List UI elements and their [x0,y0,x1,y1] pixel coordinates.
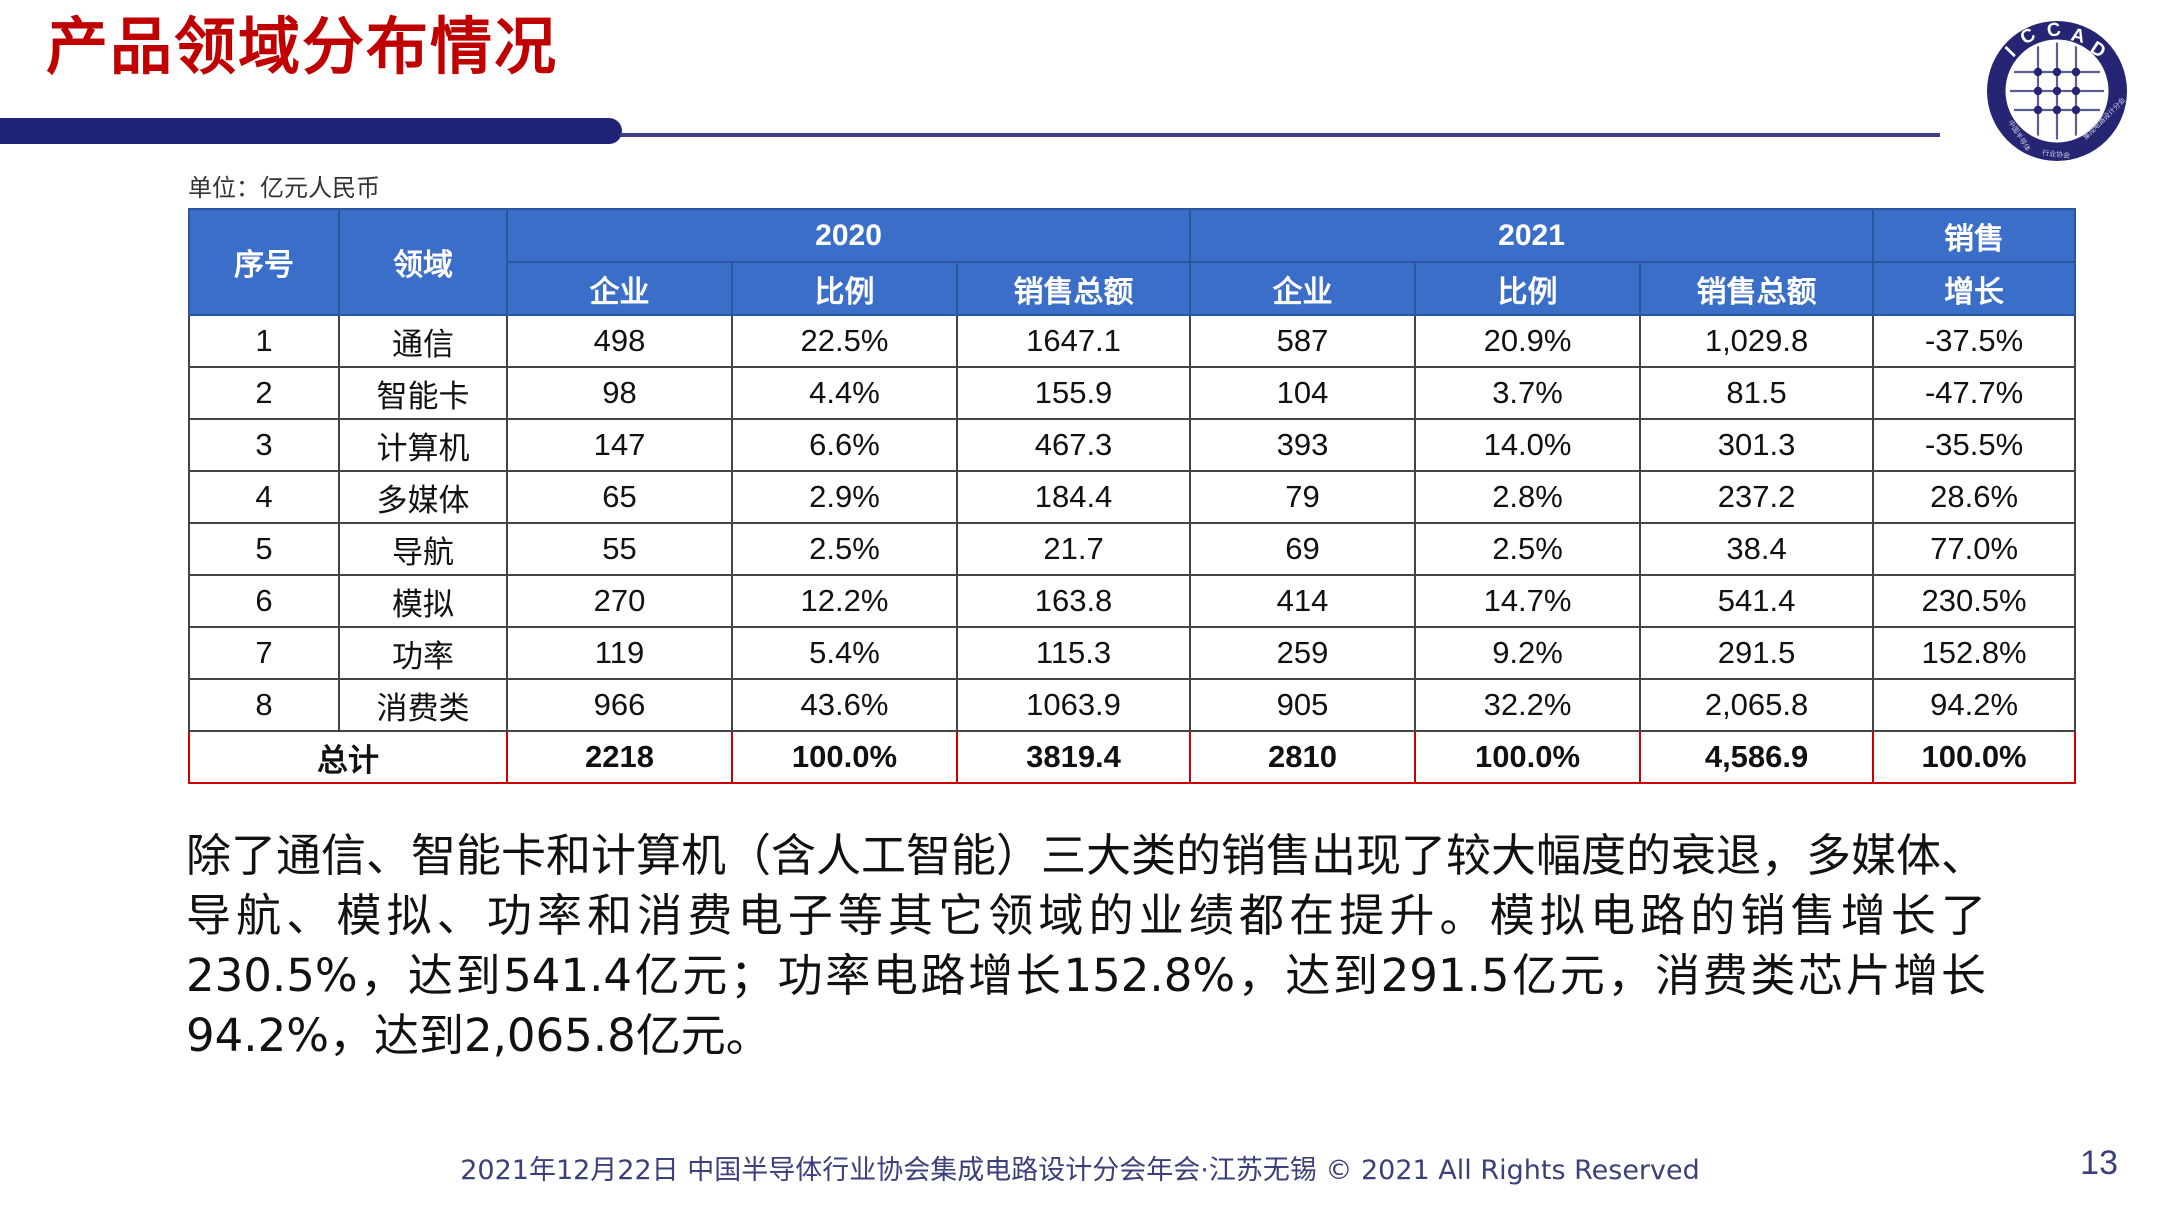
th-2021-companies: 企业 [1190,262,1415,315]
table-row: 3计算机1476.6%467.339314.0%301.3-35.5% [189,419,2075,471]
cell-r2020: 43.6% [732,679,957,731]
cell-growth: 230.5% [1873,575,2075,627]
cell-r2021: 3.7% [1415,367,1640,419]
cell-s2020: 115.3 [957,627,1190,679]
cell-s2021: 1,029.8 [1640,315,1873,367]
cell-s2020: 1647.1 [957,315,1190,367]
cell-r2021: 32.2% [1415,679,1640,731]
cell-r2021: 14.0% [1415,419,1640,471]
cell-growth: 94.2% [1873,679,2075,731]
cell-growth: 152.8% [1873,627,2075,679]
cell-r2020: 2.9% [732,471,957,523]
cell-seq: 3 [189,419,339,471]
cell-total-r2021: 100.0% [1415,731,1640,783]
cell-c2021: 79 [1190,471,1415,523]
table-row: 6模拟27012.2%163.841414.7%541.4230.5% [189,575,2075,627]
th-year-2021: 2021 [1190,209,1873,262]
th-2020-companies: 企业 [507,262,732,315]
th-growth-line1: 销售 [1873,209,2075,262]
page-number: 13 [2080,1144,2118,1183]
cell-r2020: 5.4% [732,627,957,679]
th-year-2020: 2020 [507,209,1190,262]
cell-s2021: 38.4 [1640,523,1873,575]
th-2021-sales: 销售总额 [1640,262,1873,315]
cell-c2020: 147 [507,419,732,471]
table-row: 7功率1195.4%115.32599.2%291.5152.8% [189,627,2075,679]
cell-growth: 28.6% [1873,471,2075,523]
cell-c2021: 587 [1190,315,1415,367]
cell-c2020: 119 [507,627,732,679]
cell-s2021: 81.5 [1640,367,1873,419]
cell-c2020: 65 [507,471,732,523]
cell-growth: 77.0% [1873,523,2075,575]
table-row: 1通信49822.5%1647.158720.9%1,029.8-37.5% [189,315,2075,367]
cell-s2021: 291.5 [1640,627,1873,679]
th-field: 领域 [339,209,507,315]
cell-c2021: 905 [1190,679,1415,731]
footer-text: 2021年12月22日 中国半导体行业协会集成电路设计分会年会·江苏无锡 © 2… [0,1148,2160,1187]
cell-seq: 7 [189,627,339,679]
cell-s2020: 467.3 [957,419,1190,471]
cell-seq: 4 [189,471,339,523]
cell-seq: 2 [189,367,339,419]
cell-seq: 6 [189,575,339,627]
cell-total-c2020: 2218 [507,731,732,783]
cell-field: 通信 [339,315,507,367]
cell-growth: -37.5% [1873,315,2075,367]
cell-growth: -35.5% [1873,419,2075,471]
body-paragraph: 除了通信、智能卡和计算机（含人工智能）三大类的销售出现了较大幅度的衰退，多媒体、… [186,826,1986,1065]
cell-s2020: 163.8 [957,575,1190,627]
cell-r2020: 6.6% [732,419,957,471]
cell-field: 导航 [339,523,507,575]
cell-r2020: 4.4% [732,367,957,419]
cell-s2020: 155.9 [957,367,1190,419]
cell-r2020: 2.5% [732,523,957,575]
cell-seq: 5 [189,523,339,575]
cell-c2020: 270 [507,575,732,627]
cell-s2020: 21.7 [957,523,1190,575]
th-2020-ratio: 比例 [732,262,957,315]
th-2020-sales: 销售总额 [957,262,1190,315]
cell-r2021: 2.8% [1415,471,1640,523]
divider-thick-bar [0,118,622,144]
cell-s2021: 237.2 [1640,471,1873,523]
cell-c2020: 498 [507,315,732,367]
cell-total-growth: 100.0% [1873,731,2075,783]
cell-c2020: 55 [507,523,732,575]
cell-s2020: 1063.9 [957,679,1190,731]
cell-total-label: 总计 [189,731,507,783]
table-header: 序号 领域 2020 2021 销售 企业 比例 销售总额 企业 比例 销售总额… [189,209,2075,315]
cell-c2021: 414 [1190,575,1415,627]
table-row: 2智能卡984.4%155.91043.7%81.5-47.7% [189,367,2075,419]
cell-field: 多媒体 [339,471,507,523]
cell-c2020: 966 [507,679,732,731]
cell-r2021: 9.2% [1415,627,1640,679]
cell-field: 智能卡 [339,367,507,419]
cell-total-c2021: 2810 [1190,731,1415,783]
cell-c2020: 98 [507,367,732,419]
cell-s2020: 184.4 [957,471,1190,523]
cell-c2021: 104 [1190,367,1415,419]
cell-c2021: 393 [1190,419,1415,471]
th-seq: 序号 [189,209,339,315]
cell-field: 计算机 [339,419,507,471]
cell-c2021: 69 [1190,523,1415,575]
cell-r2021: 20.9% [1415,315,1640,367]
cell-field: 消费类 [339,679,507,731]
cell-total-s2020: 3819.4 [957,731,1190,783]
cell-s2021: 301.3 [1640,419,1873,471]
cell-s2021: 2,065.8 [1640,679,1873,731]
unit-note: 单位：亿元人民币 [188,168,380,203]
product-field-table-wrapper: 序号 领域 2020 2021 销售 企业 比例 销售总额 企业 比例 销售总额… [188,208,1974,784]
th-growth-line2: 增长 [1873,262,2075,315]
cell-seq: 1 [189,315,339,367]
cell-field: 功率 [339,627,507,679]
table-row: 8消费类96643.6%1063.990532.2%2,065.894.2% [189,679,2075,731]
divider-thin-line [620,133,1940,137]
product-field-distribution-table: 序号 领域 2020 2021 销售 企业 比例 销售总额 企业 比例 销售总额… [188,208,2076,784]
table-total-row: 总计2218100.0%3819.42810100.0%4,586.9100.0… [189,731,2075,783]
cell-field: 模拟 [339,575,507,627]
table-body: 1通信49822.5%1647.158720.9%1,029.8-37.5%2智… [189,315,2075,783]
cell-total-r2020: 100.0% [732,731,957,783]
table-row: 5导航552.5%21.7692.5%38.477.0% [189,523,2075,575]
cell-r2021: 2.5% [1415,523,1640,575]
cell-growth: -47.7% [1873,367,2075,419]
cell-c2021: 259 [1190,627,1415,679]
cell-total-s2021: 4,586.9 [1640,731,1873,783]
title-divider [0,118,2160,148]
th-2021-ratio: 比例 [1415,262,1640,315]
page-title: 产品领域分布情况 [46,14,558,82]
table-row: 4多媒体652.9%184.4792.8%237.228.6% [189,471,2075,523]
cell-seq: 8 [189,679,339,731]
cell-r2021: 14.7% [1415,575,1640,627]
cell-r2020: 22.5% [732,315,957,367]
cell-r2020: 12.2% [732,575,957,627]
iccad-logo: I C C A D 中国半导体 行业协会 集成电路设计分会 [1982,16,2132,166]
cell-s2021: 541.4 [1640,575,1873,627]
